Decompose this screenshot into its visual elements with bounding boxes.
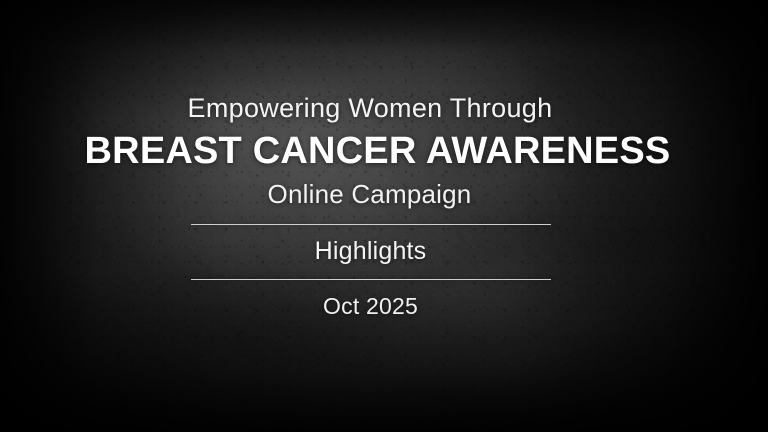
slide-subheadline: Online Campaign xyxy=(268,179,472,209)
section-label: Highlights xyxy=(315,237,427,266)
eyebrow-text: Empowering Women Through xyxy=(188,93,553,125)
slide-headline: BREAST CANCER AWARENESS xyxy=(85,130,671,173)
title-block: Empowering Women Through BREAST CANCER A… xyxy=(0,0,768,432)
title-slide: Empowering Women Through BREAST CANCER A… xyxy=(0,0,768,432)
divider-line-top xyxy=(191,224,551,225)
date-label: Oct 2025 xyxy=(323,293,418,320)
divider-line-bottom xyxy=(191,279,551,280)
